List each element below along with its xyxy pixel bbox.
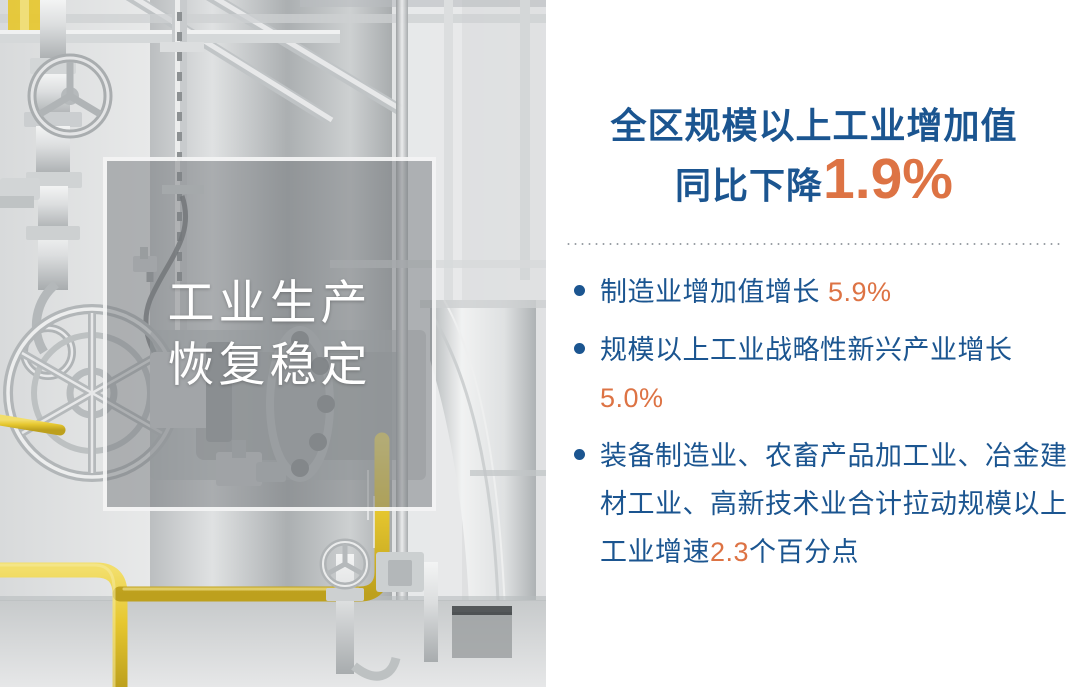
headline-prefix: 同比下降 [675, 165, 823, 206]
content-panel: 全区规模以上工业增加值 同比下降1.9% 制造业增加值增长 5.9%规模以上工业… [546, 0, 1080, 687]
bullet-list: 制造业增加值增长 5.9%规模以上工业战略性新兴产业增长 5.0%装备制造业、农… [564, 268, 1068, 586]
bullet-dot-icon [574, 449, 585, 460]
headline-value: 1.9% [823, 147, 953, 211]
bullet-dot-icon [574, 343, 585, 354]
caption-line-1: 工业生产 [168, 272, 372, 334]
dotted-divider [565, 243, 1061, 245]
headline-block: 全区规模以上工业增加值 同比下降1.9% [568, 104, 1060, 223]
caption-line-2: 恢复稳定 [168, 334, 372, 396]
bullet-manufacturing: 制造业增加值增长 5.9% [564, 268, 1068, 316]
slide-root: 工业生产 恢复稳定 全区规模以上工业增加值 同比下降1.9% 制造业增加值增长 … [0, 0, 1080, 687]
bullet-strategic-emerging: 规模以上工业战略性新兴产业增长 5.0% [564, 326, 1068, 422]
bullet-text: 规模以上工业战略性新兴产业增长 5.0% [600, 326, 1068, 422]
bullet-text-segment: 制造业增加值增长 [600, 277, 828, 307]
headline-line-2: 同比下降1.9% [568, 150, 1060, 223]
bullet-text: 装备制造业、农畜产品加工业、冶金建材工业、高新技术业合计拉动规模以上工业增速2.… [600, 432, 1068, 576]
bullet-highlight-value: 5.0% [600, 383, 664, 413]
bullet-highlight-value: 5.9% [828, 277, 892, 307]
bullet-highlight-value: 2.3 [710, 537, 749, 567]
bullet-text-segment: 个百分点 [749, 537, 859, 567]
headline-line-1: 全区规模以上工业增加值 [568, 104, 1060, 148]
bullet-text: 制造业增加值增长 5.9% [600, 268, 1068, 316]
photo-caption-overlay: 工业生产 恢复稳定 [103, 157, 436, 511]
industrial-plant-photo: 工业生产 恢复稳定 [0, 0, 546, 687]
bullet-text-segment: 规模以上工业战略性新兴产业增长 [600, 335, 1013, 365]
bullet-dot-icon [574, 285, 585, 296]
bullet-sector-contribution: 装备制造业、农畜产品加工业、冶金建材工业、高新技术业合计拉动规模以上工业增速2.… [564, 432, 1068, 576]
